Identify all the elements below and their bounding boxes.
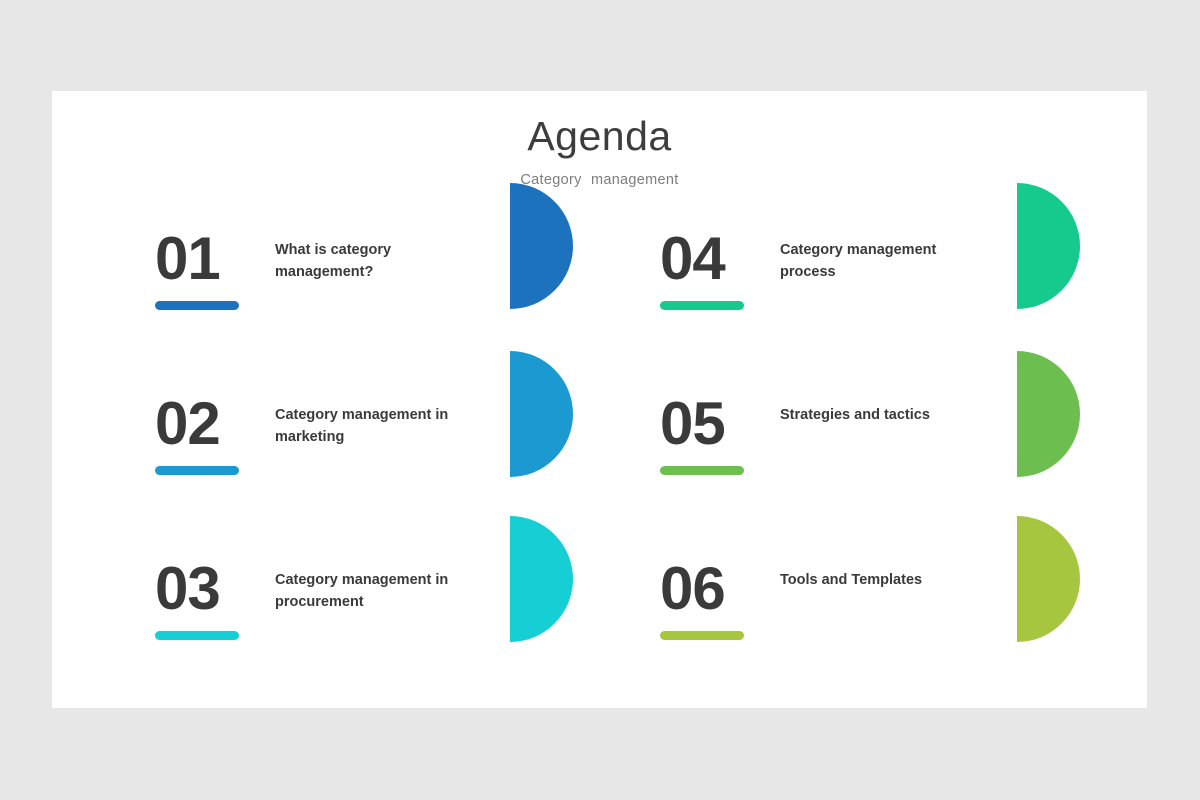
agenda-item-06[interactable]: 06 Tools and Templates (608, 543, 1128, 708)
item-underline-05 (660, 466, 744, 475)
item-number-04: 04 (660, 229, 780, 289)
half-disc-blue-icon (510, 183, 573, 309)
item-label-02: Category management in marketing (275, 404, 475, 448)
agenda-item-05[interactable]: 05 Strategies and tactics (608, 378, 1128, 543)
agenda-item-01[interactable]: 01 What is category management? (103, 213, 623, 378)
item-label-03: Category management in procurement (275, 569, 475, 613)
item-number-block-01: 01 (155, 229, 275, 310)
half-disc-emerald-icon (1017, 183, 1080, 309)
item-underline-01 (155, 301, 239, 310)
item-number-block-02: 02 (155, 394, 275, 475)
agenda-item-04[interactable]: 04 Category management process (608, 213, 1128, 378)
slide-card: Agenda Category management 01 What is ca… (52, 91, 1147, 708)
page-title: Agenda (52, 113, 1147, 160)
item-number-block-05: 05 (660, 394, 780, 475)
item-label-05: Strategies and tactics (780, 404, 990, 426)
item-number-01: 01 (155, 229, 275, 289)
item-underline-03 (155, 631, 239, 640)
item-underline-06 (660, 631, 744, 640)
agenda-column-left: 01 What is category management? 02 Categ… (103, 213, 623, 708)
item-label-06: Tools and Templates (780, 569, 990, 591)
item-number-03: 03 (155, 559, 275, 619)
page-subtitle: Category management (52, 172, 1147, 188)
item-label-04: Category management process (780, 239, 990, 283)
item-number-block-06: 06 (660, 559, 780, 640)
item-number-block-04: 04 (660, 229, 780, 310)
agenda-item-02[interactable]: 02 Category management in marketing (103, 378, 623, 543)
agenda-column-right: 04 Category management process 05 Strate… (608, 213, 1128, 708)
item-number-block-03: 03 (155, 559, 275, 640)
item-label-01: What is category management? (275, 239, 475, 283)
slide-header: Agenda Category management (52, 113, 1147, 188)
item-number-02: 02 (155, 394, 275, 454)
item-number-06: 06 (660, 559, 780, 619)
item-underline-04 (660, 301, 744, 310)
item-underline-02 (155, 466, 239, 475)
agenda-item-03[interactable]: 03 Category management in procurement (103, 543, 623, 708)
item-number-05: 05 (660, 394, 780, 454)
